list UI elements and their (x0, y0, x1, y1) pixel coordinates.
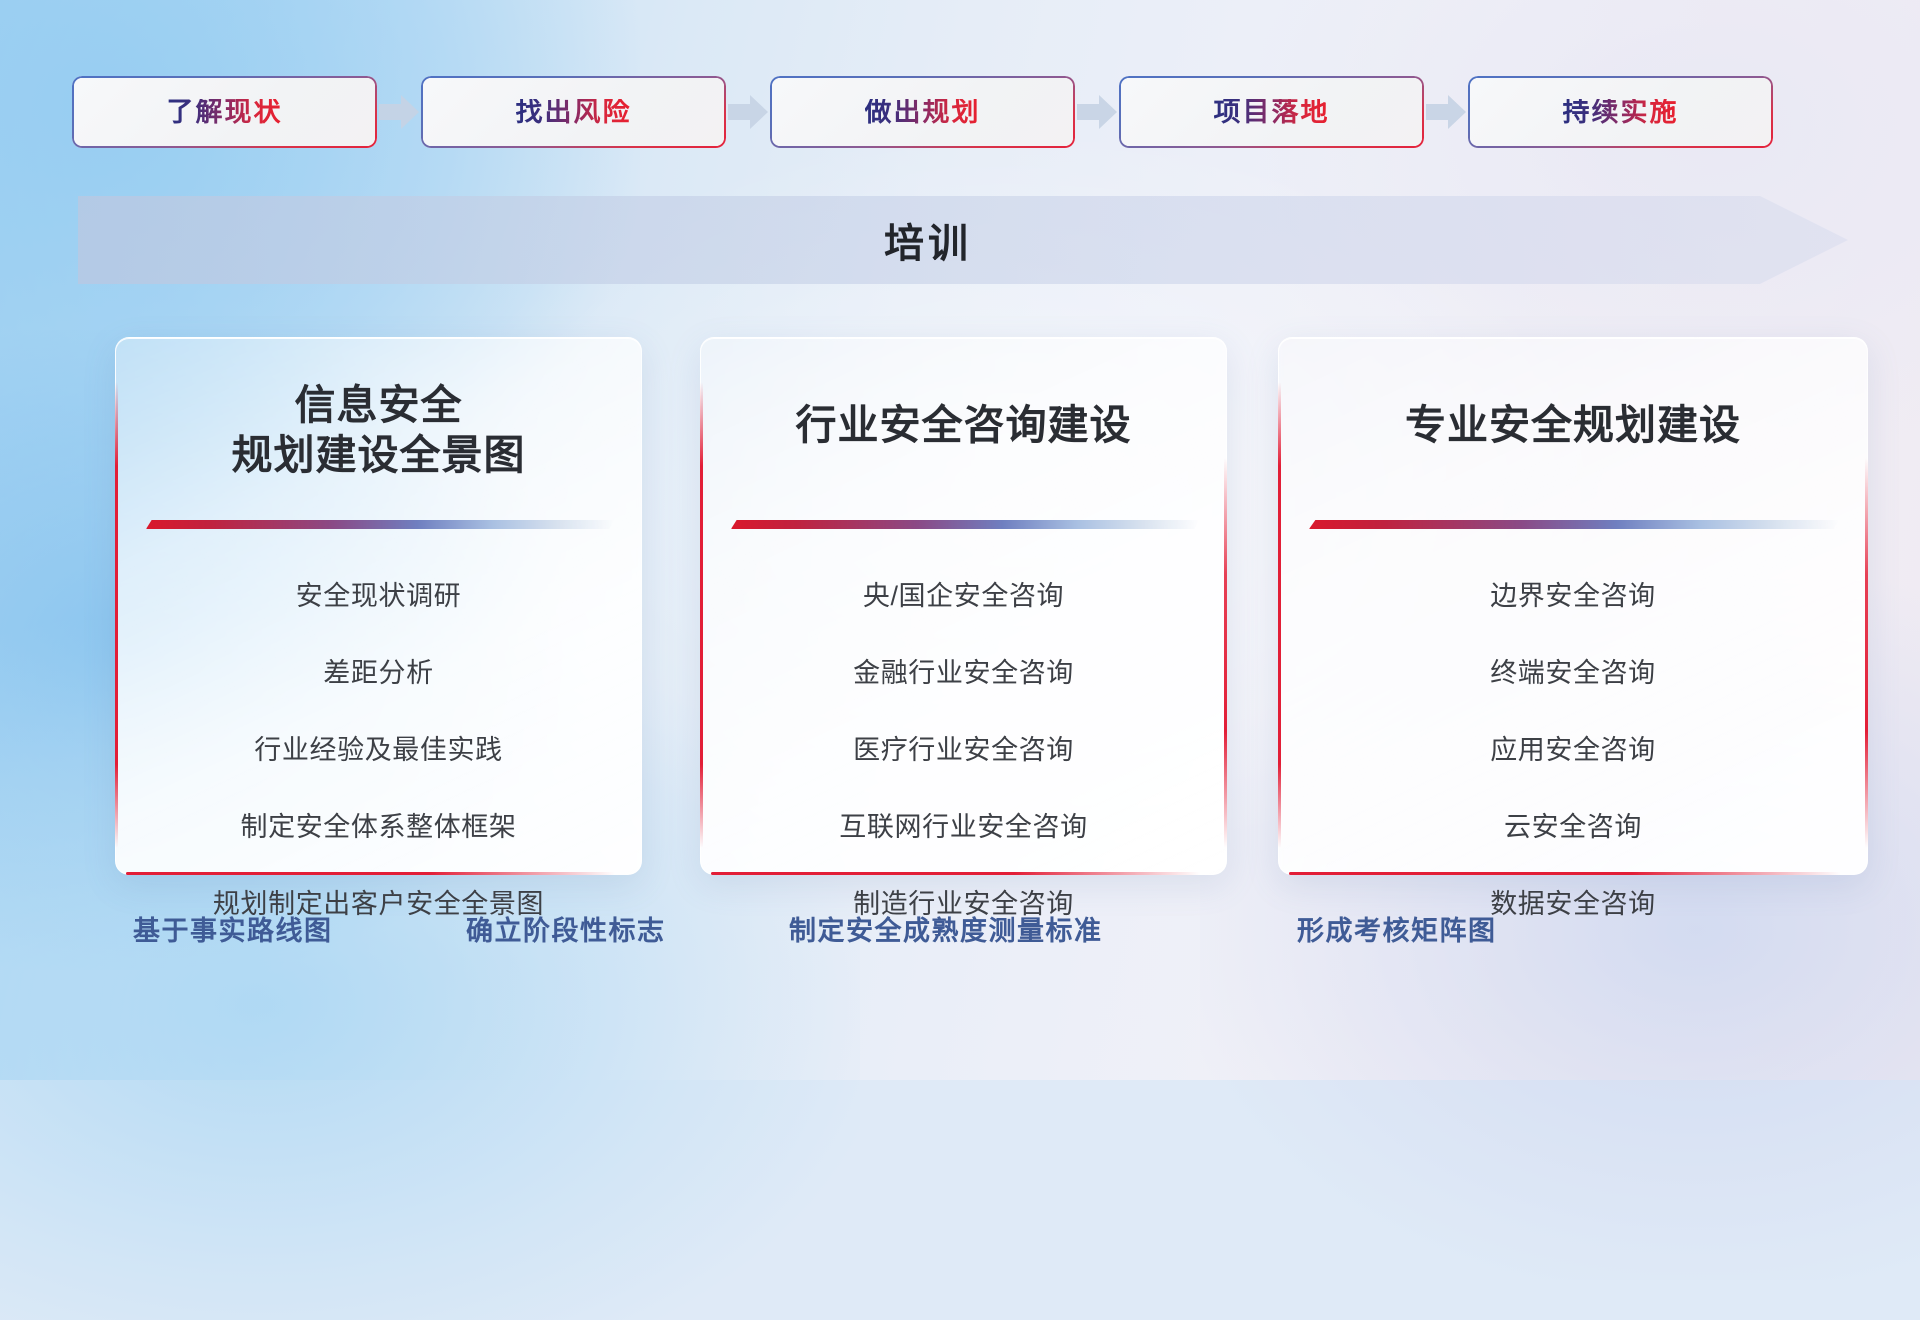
card-list-item: 差距分析 (323, 660, 433, 687)
card-list-item: 互联网行业安全咨询 (839, 814, 1087, 841)
card-list-item: 终端安全咨询 (1490, 660, 1656, 687)
process-step-inner: 做出规划 (772, 78, 1073, 146)
arrow-right-icon (728, 95, 768, 129)
card-divider (1309, 520, 1839, 529)
card-title-line: 专业安全规划建设 (1305, 400, 1841, 450)
card-list-item: 医疗行业安全咨询 (853, 737, 1074, 764)
card-title: 行业安全咨询建设 (701, 338, 1226, 450)
banner-label: 培训 (78, 196, 1778, 284)
card-list-item: 云安全咨询 (1504, 814, 1642, 841)
process-arrow-2 (726, 76, 770, 148)
process-step-label: 项目落地 (1214, 99, 1330, 126)
caption-row: 基于事实路线图确立阶段性标志制定安全成熟度测量标准形成考核矩阵图 (0, 905, 1920, 957)
caption-4: 形成考核矩阵图 (1297, 905, 1497, 957)
caption-3: 制定安全成熟度测量标准 (789, 905, 1103, 957)
card-item-list: 边界安全咨询终端安全咨询应用安全咨询云安全咨询数据安全咨询 (1279, 583, 1867, 918)
card-list-item: 边界安全咨询 (1490, 583, 1656, 610)
card-list-item: 行业经验及最佳实践 (254, 737, 502, 764)
process-step-label: 找出风险 (516, 99, 632, 126)
card-divider (146, 520, 614, 529)
caption-1: 基于事实路线图 (133, 905, 333, 957)
training-banner: 培训 (78, 196, 1848, 284)
process-step-row: 了解现状找出风险做出规划项目落地持续实施 (0, 73, 1920, 151)
process-step-inner: 了解现状 (74, 78, 375, 146)
card-divider (731, 520, 1199, 529)
caption-2: 确立阶段性标志 (466, 905, 666, 957)
card-title-line: 规划建设全景图 (142, 430, 615, 480)
process-arrow-3 (1075, 76, 1119, 148)
process-step-label: 做出规划 (865, 99, 981, 126)
arrow-right-icon (1077, 95, 1117, 129)
service-card-2[interactable]: 行业安全咨询建设央/国企安全咨询金融行业安全咨询医疗行业安全咨询互联网行业安全咨… (700, 337, 1227, 875)
process-step-3[interactable]: 做出规划 (770, 76, 1075, 148)
card-list-item: 央/国企安全咨询 (863, 583, 1064, 610)
process-arrow-1 (377, 76, 421, 148)
process-step-inner: 找出风险 (423, 78, 724, 146)
process-step-label: 持续实施 (1563, 99, 1679, 126)
process-step-4[interactable]: 项目落地 (1119, 76, 1424, 148)
card-list-item: 金融行业安全咨询 (853, 660, 1074, 687)
card-title: 专业安全规划建设 (1279, 338, 1867, 450)
service-card-3[interactable]: 专业安全规划建设边界安全咨询终端安全咨询应用安全咨询云安全咨询数据安全咨询 (1278, 337, 1868, 875)
arrow-right-icon (379, 95, 419, 129)
arrow-right-icon (1426, 95, 1466, 129)
card-list-item: 制定安全体系整体框架 (241, 814, 517, 841)
card-list-item: 安全现状调研 (296, 583, 462, 610)
process-step-2[interactable]: 找出风险 (421, 76, 726, 148)
card-row: 信息安全规划建设全景图安全现状调研差距分析行业经验及最佳实践制定安全体系整体框架… (0, 337, 1920, 877)
card-item-list: 央/国企安全咨询金融行业安全咨询医疗行业安全咨询互联网行业安全咨询制造行业安全咨… (701, 583, 1226, 918)
process-step-inner: 项目落地 (1121, 78, 1422, 146)
service-card-1[interactable]: 信息安全规划建设全景图安全现状调研差距分析行业经验及最佳实践制定安全体系整体框架… (115, 337, 642, 875)
process-step-5[interactable]: 持续实施 (1468, 76, 1773, 148)
process-arrow-4 (1424, 76, 1468, 148)
card-title-line: 信息安全 (142, 380, 615, 430)
process-step-1[interactable]: 了解现状 (72, 76, 377, 148)
process-step-inner: 持续实施 (1470, 78, 1771, 146)
process-step-label: 了解现状 (167, 99, 283, 126)
card-title: 信息安全规划建设全景图 (116, 338, 641, 480)
card-item-list: 安全现状调研差距分析行业经验及最佳实践制定安全体系整体框架规划制定出客户安全全景… (116, 583, 641, 918)
card-title-line: 行业安全咨询建设 (727, 400, 1200, 450)
card-list-item: 应用安全咨询 (1490, 737, 1656, 764)
